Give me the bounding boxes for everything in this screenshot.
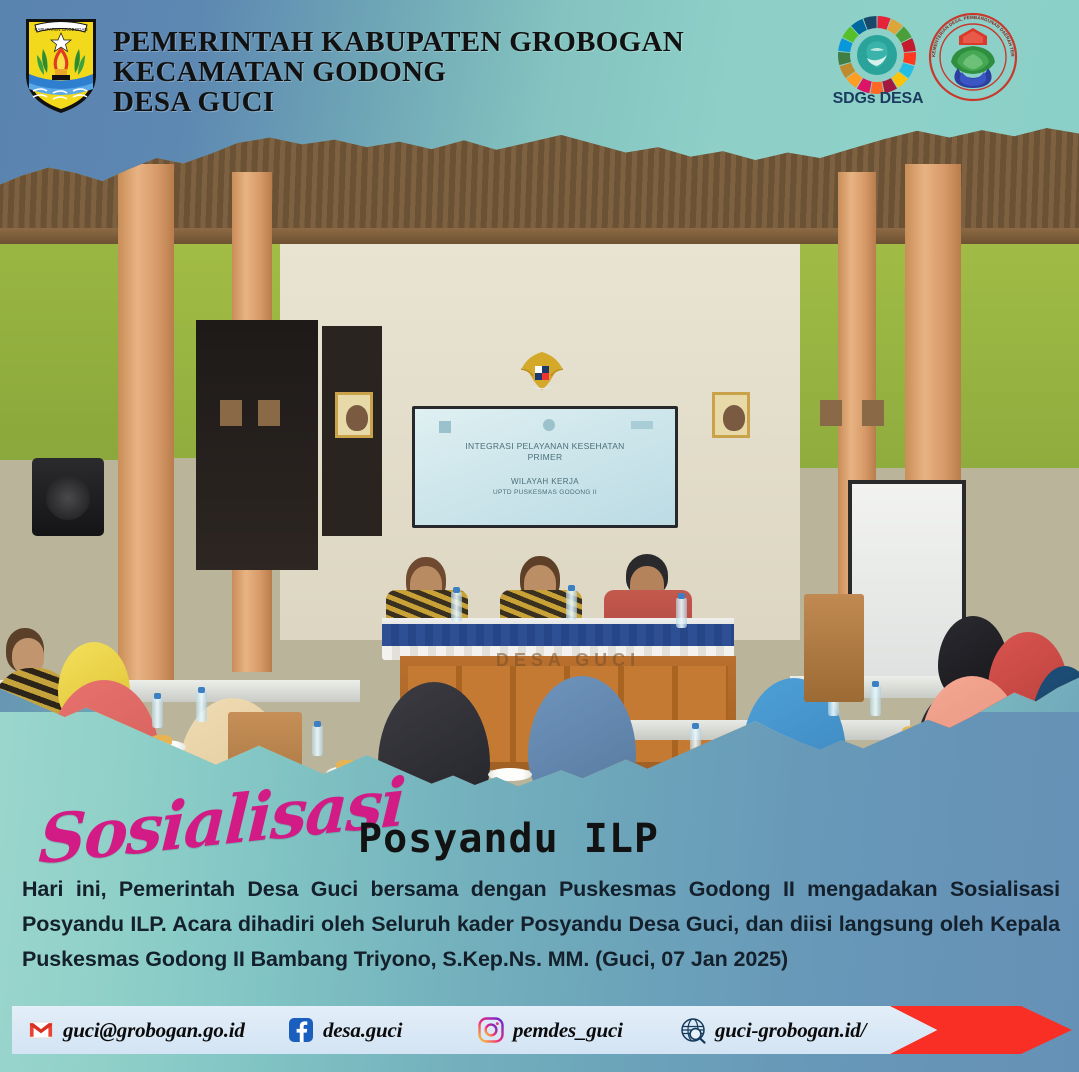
- slide-logo-left-icon: [439, 421, 451, 433]
- wall-decoration: [862, 400, 884, 426]
- main-title: Posyandu ILP: [358, 816, 659, 862]
- wall-decoration: [220, 400, 242, 426]
- projector-screen: INTEGRASI PELAYANAN KESEHATAN PRIMER WIL…: [412, 406, 678, 528]
- wall-portrait-frame: [335, 392, 373, 438]
- header-title-block: PEMERINTAH KABUPATEN GROBOGAN KECAMATAN …: [113, 27, 684, 117]
- slide-logo-center-icon: [543, 419, 555, 431]
- header-line-3: DESA GUCI: [113, 87, 684, 117]
- gmail-icon: [28, 1017, 54, 1043]
- caption-body: Hari ini, Pemerintah Desa Guci bersama d…: [22, 872, 1060, 976]
- footer-item-instagram[interactable]: pemdes_guci: [478, 1006, 623, 1054]
- wall-decoration: [820, 400, 842, 426]
- water-bottle: [676, 598, 687, 628]
- footer-instagram-label: pemdes_guci: [513, 1018, 623, 1043]
- sdgs-desa-wheel-logo-icon: [836, 14, 918, 96]
- wooden-pillar: [118, 164, 174, 684]
- dark-doorway: [196, 320, 318, 570]
- svg-text:KABUPATEN GROBOGAN: KABUPATEN GROBOGAN: [34, 27, 87, 32]
- loudspeaker-cone: [46, 476, 90, 520]
- water-bottle: [566, 590, 577, 620]
- wall-portrait-frame: [712, 392, 750, 438]
- footer-item-website[interactable]: guci-grobogan.id/: [680, 1006, 866, 1054]
- script-title: Sosialisasi: [37, 762, 406, 879]
- wooden-chair: [804, 594, 864, 702]
- event-photo: INTEGRASI PELAYANAN KESEHATAN PRIMER WIL…: [0, 120, 1079, 800]
- instagram-icon: [478, 1017, 504, 1043]
- footer-item-facebook[interactable]: desa.guci: [288, 1006, 402, 1054]
- footer-contact-bar: guci@grobogan.go.id desa.guci: [12, 1006, 1067, 1054]
- caption-paragraph: Hari ini, Pemerintah Desa Guci bersama d…: [22, 872, 1060, 976]
- header-line-1: PEMERINTAH KABUPATEN GROBOGAN: [113, 27, 684, 57]
- footer-email-label: guci@grobogan.go.id: [63, 1018, 245, 1043]
- grobogan-regency-crest-icon: KABUPATEN GROBOGAN: [21, 13, 101, 116]
- water-bottle: [870, 686, 881, 716]
- footer-website-label: guci-grobogan.id/: [715, 1018, 866, 1043]
- kementerian-desa-pdtt-logo-icon: KEMENTERIAN DESA, PEMBANGUNAN DAERAH TER…: [928, 12, 1018, 102]
- header: KABUPATEN GROBOGAN PEMERINTAH KABUPATEN …: [0, 0, 1079, 125]
- globe-search-icon: [680, 1017, 706, 1043]
- wall-decoration: [258, 400, 280, 426]
- footer-item-email[interactable]: guci@grobogan.go.id: [28, 1006, 245, 1054]
- slide-line-1: INTEGRASI PELAYANAN KESEHATAN: [415, 441, 675, 451]
- facebook-icon: [288, 1017, 314, 1043]
- slide-line-3: WILAYAH KERJA: [415, 477, 675, 486]
- projected-slide: INTEGRASI PELAYANAN KESEHATAN PRIMER WIL…: [415, 409, 675, 525]
- garuda-emblem-icon: [515, 342, 569, 400]
- header-line-2: KECAMATAN GODONG: [113, 57, 684, 87]
- water-bottle: [312, 726, 323, 756]
- table-watermark: DESA GUCI: [400, 650, 736, 671]
- water-bottle: [152, 698, 163, 728]
- slide-line-4: UPTD PUSKESMAS GODONG II: [415, 489, 675, 496]
- sdgs-desa-label: SDGs DESA: [826, 90, 930, 108]
- water-bottle: [451, 592, 462, 622]
- slide-logo-right-icon: [631, 421, 653, 429]
- footer-facebook-label: desa.guci: [323, 1018, 402, 1043]
- slide-line-2: PRIMER: [415, 452, 675, 462]
- water-bottle: [196, 692, 207, 722]
